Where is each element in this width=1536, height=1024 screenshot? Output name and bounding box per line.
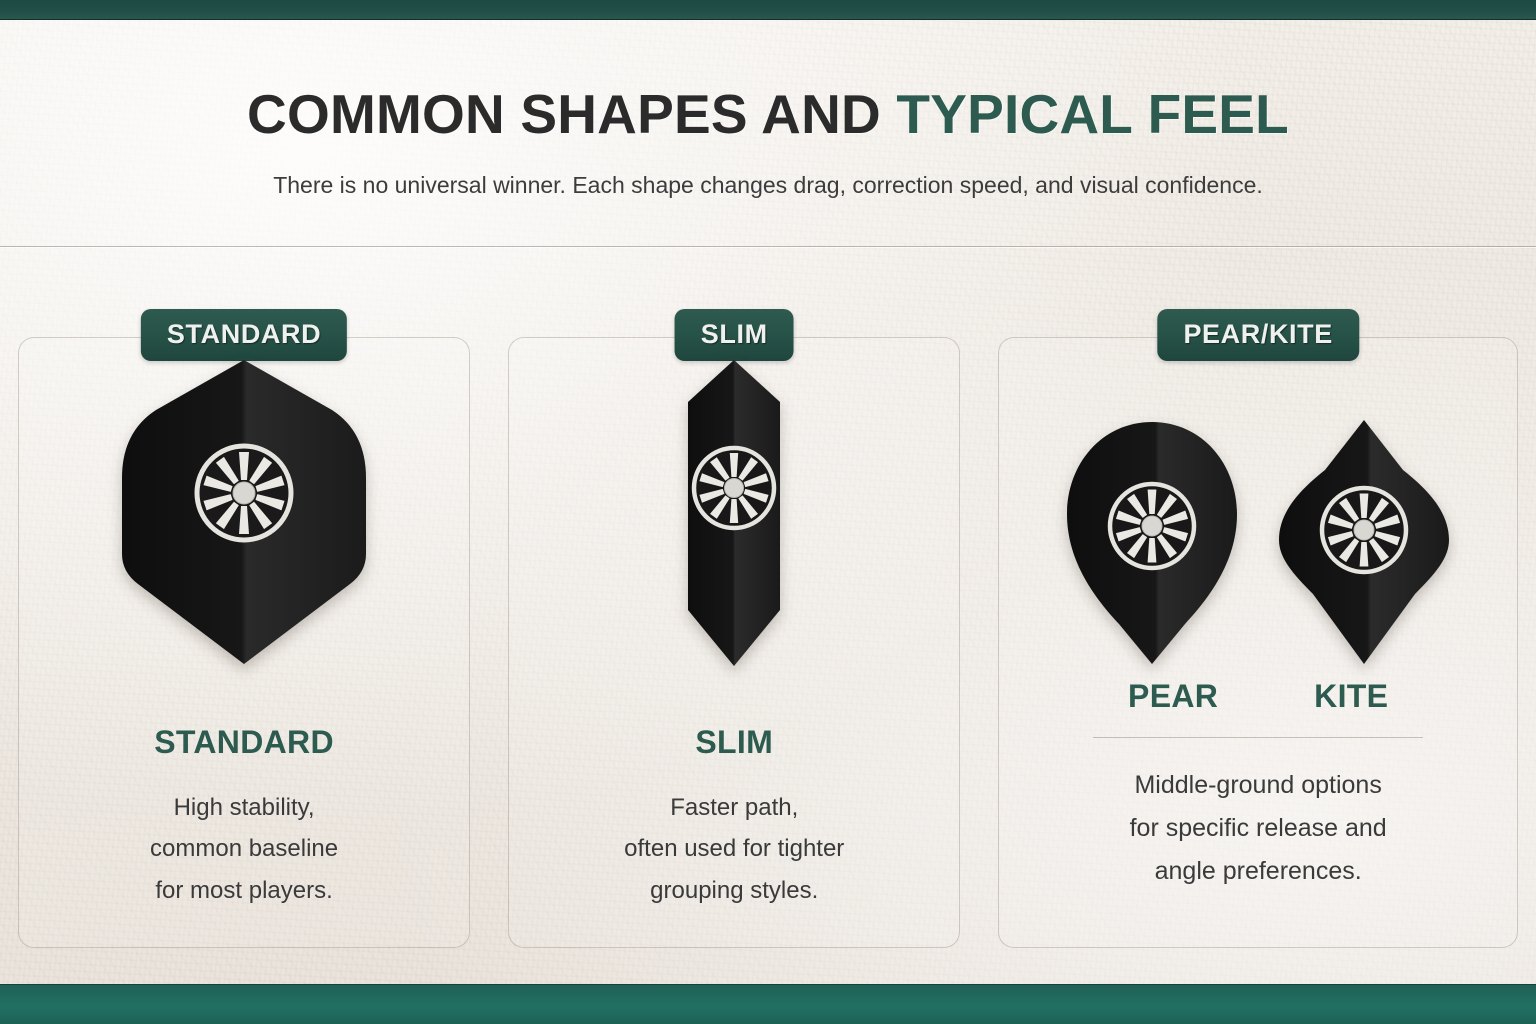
infographic-poster: COMMON SHAPES AND TYPICAL FEEL There is … bbox=[0, 0, 1536, 1024]
desc-line: common baseline bbox=[150, 828, 338, 869]
bottom-accent-band bbox=[0, 984, 1536, 1024]
card-title-standard: STANDARD bbox=[154, 724, 334, 761]
desc-line: High stability, bbox=[150, 787, 338, 828]
desc-line: for most players. bbox=[150, 870, 338, 911]
card-desc-slim: Faster path, often used for tighter grou… bbox=[606, 787, 862, 911]
top-accent-band bbox=[0, 0, 1536, 20]
page-subtitle: There is no universal winner. Each shape… bbox=[0, 172, 1536, 199]
desc-line: grouping styles. bbox=[624, 870, 844, 911]
page-title: COMMON SHAPES AND TYPICAL FEEL bbox=[0, 82, 1536, 146]
slim-flight-icon bbox=[679, 358, 789, 668]
card-slim[interactable]: SLIM bbox=[508, 337, 960, 948]
desc-line: Middle-ground options bbox=[1130, 764, 1387, 807]
title-accent-text: TYPICAL FEEL bbox=[896, 83, 1289, 145]
poster-header: COMMON SHAPES AND TYPICAL FEEL There is … bbox=[0, 20, 1536, 246]
card-badge-slim: SLIM bbox=[675, 309, 794, 361]
title-primary-text: COMMON SHAPES AND bbox=[247, 83, 896, 145]
shape-area-pear-kite bbox=[1063, 338, 1453, 668]
cards-row: STANDARD bbox=[18, 337, 1518, 948]
pear-kite-labels: PEAR KITE bbox=[999, 678, 1517, 715]
desc-line: Faster path, bbox=[624, 787, 844, 828]
standard-flight-icon bbox=[118, 358, 370, 668]
card-desc-pear-kite: Middle-ground options for specific relea… bbox=[1112, 764, 1405, 893]
pear-flight-icon bbox=[1063, 418, 1241, 668]
header-divider bbox=[0, 246, 1536, 247]
card-badge-standard: STANDARD bbox=[141, 309, 347, 361]
shape-label-kite: KITE bbox=[1314, 678, 1388, 715]
card-badge-pear-kite: PEAR/KITE bbox=[1157, 309, 1358, 361]
card-pear-kite[interactable]: PEAR/KITE bbox=[998, 337, 1518, 948]
shape-area-standard bbox=[118, 338, 370, 668]
desc-line: angle preferences. bbox=[1130, 850, 1387, 893]
shape-area-slim bbox=[679, 338, 789, 668]
desc-line: for specific release and bbox=[1130, 807, 1387, 850]
card-standard[interactable]: STANDARD bbox=[18, 337, 470, 948]
card-inner-divider bbox=[1093, 737, 1423, 738]
shape-label-pear: PEAR bbox=[1128, 678, 1218, 715]
desc-line: often used for tighter bbox=[624, 828, 844, 869]
card-desc-standard: High stability, common baseline for most… bbox=[132, 787, 356, 911]
kite-flight-icon bbox=[1275, 418, 1453, 668]
card-title-slim: SLIM bbox=[695, 724, 773, 761]
